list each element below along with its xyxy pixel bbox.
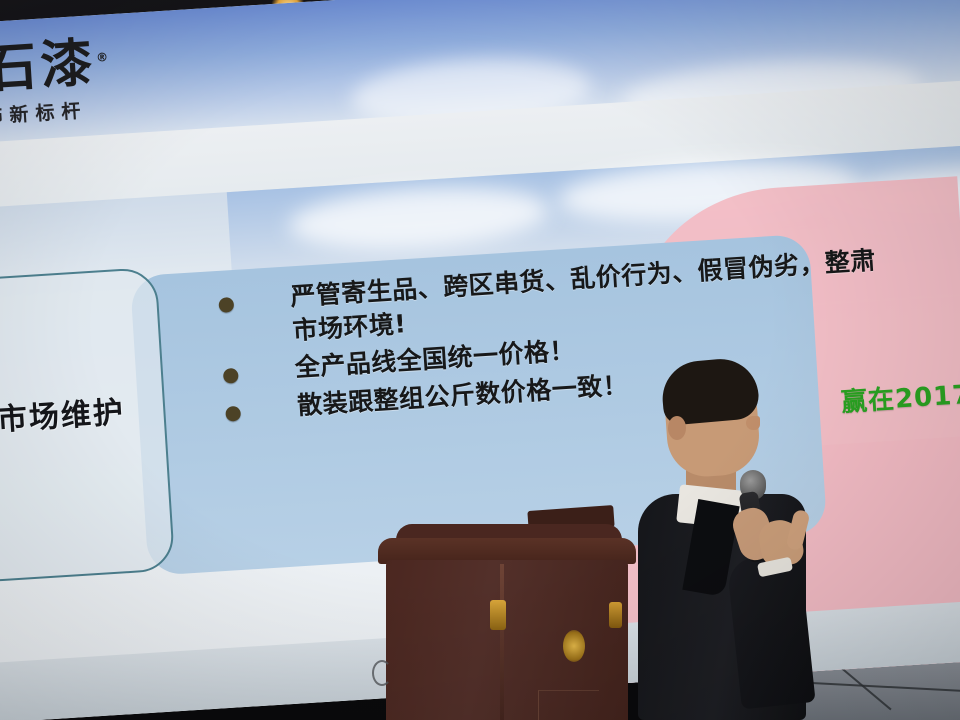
- speaker-arm: [726, 553, 815, 710]
- brand-logo-main: 仿石漆®: [0, 36, 114, 99]
- cloud: [287, 180, 550, 256]
- podium-gold-crest: [563, 630, 585, 662]
- speaker-ear: [668, 416, 686, 440]
- podium-ring: [372, 660, 392, 686]
- podium-panel: [538, 690, 599, 720]
- brand-logo-text: 仿石漆: [0, 33, 98, 103]
- bullet-dot-icon: [225, 405, 241, 421]
- speaker-nose: [746, 416, 760, 430]
- bullet-dot-icon: [218, 297, 234, 313]
- podium-gold-trim: [609, 602, 622, 628]
- speaker: [638, 360, 828, 720]
- podium-seam: [500, 564, 504, 720]
- registered-mark-icon: ®: [96, 50, 113, 65]
- podium: [378, 512, 636, 720]
- photo-scene: 仿石漆® 墙装饰新标杆 市场维护: [0, 0, 960, 720]
- corner-slogan: 赢在2017: [840, 374, 960, 419]
- podium-gold-trim: [490, 600, 506, 630]
- section-title: 市场维护: [0, 385, 164, 442]
- bullet-dot-icon: [223, 368, 239, 384]
- brand-logo: 仿石漆® 墙装饰新标杆: [0, 36, 116, 132]
- section-title-box: 市场维护: [0, 267, 175, 584]
